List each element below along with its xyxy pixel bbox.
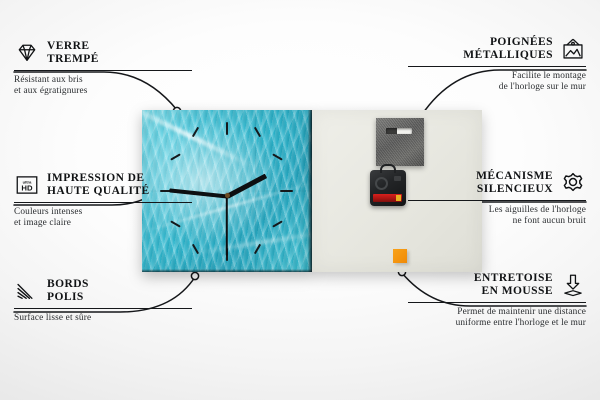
feature-poignees-metalliques: POIGNÉES MÉTALLIQUES Facilite le montage… bbox=[408, 36, 586, 94]
feature-rule bbox=[14, 202, 192, 203]
feature-header: ENTRETOISE EN MOUSSE bbox=[408, 272, 586, 298]
feature-title: VERRE TREMPÉ bbox=[47, 40, 99, 65]
feature-description: Facilite le montage de l'horloge sur le … bbox=[408, 71, 586, 94]
arrow-down-pad-icon bbox=[560, 272, 586, 298]
gear-icon bbox=[560, 170, 586, 196]
feature-title: ENTRETOISE EN MOUSSE bbox=[474, 272, 553, 297]
feature-title: IMPRESSION DE HAUTE QUALITÉ bbox=[47, 172, 150, 197]
foam-spacer bbox=[393, 249, 407, 263]
feature-rule bbox=[408, 66, 586, 67]
movement-battery bbox=[373, 194, 402, 202]
feature-verre-trempe: VERRE TREMPÉ Résistant aux bris et aux é… bbox=[14, 40, 192, 98]
feature-title: POIGNÉES MÉTALLIQUES bbox=[463, 36, 553, 61]
glass-edge-bottom bbox=[142, 269, 312, 272]
clock-tick bbox=[280, 190, 293, 192]
wall-mount-frame-icon bbox=[560, 36, 586, 62]
feature-header: BORDS POLIS bbox=[14, 278, 192, 304]
movement-knob bbox=[394, 176, 401, 181]
movement-dial bbox=[375, 177, 388, 190]
battery-terminal bbox=[396, 195, 401, 201]
feature-rule bbox=[408, 302, 586, 303]
feature-entretoise-en-mousse: ENTRETOISE EN MOUSSE Permet de maintenir… bbox=[408, 272, 586, 330]
metal-hanger-plate bbox=[376, 118, 424, 166]
clock-second-hand bbox=[226, 196, 228, 256]
feature-impression-haute-qualite: ultra HD IMPRESSION DE HAUTE QUALITÉ Cou… bbox=[14, 172, 192, 230]
svg-text:HD: HD bbox=[21, 184, 33, 193]
feature-description: Permet de maintenir une distance uniform… bbox=[408, 307, 586, 330]
feature-rule bbox=[14, 308, 192, 309]
infographic-canvas: VERRE TREMPÉ Résistant aux bris et aux é… bbox=[0, 0, 600, 400]
feature-title: BORDS POLIS bbox=[47, 278, 89, 303]
clock-tick bbox=[226, 122, 228, 135]
feature-header: POIGNÉES MÉTALLIQUES bbox=[408, 36, 586, 62]
clock-movement bbox=[370, 170, 406, 206]
connector-dot-bords bbox=[191, 272, 198, 279]
feature-description: Résistant aux bris et aux égratignures bbox=[14, 75, 192, 98]
feature-rule bbox=[408, 200, 586, 201]
ultra-hd-icon: ultra HD bbox=[14, 172, 40, 198]
feature-description: Surface lisse et sûre bbox=[14, 313, 192, 324]
feature-description: Les aiguilles de l'horloge ne font aucun… bbox=[408, 205, 586, 228]
feature-header: ultra HD IMPRESSION DE HAUTE QUALITÉ bbox=[14, 172, 192, 198]
feature-rule bbox=[14, 70, 192, 71]
diamond-icon bbox=[14, 40, 40, 66]
feature-bords-polis: BORDS POLIS Surface lisse et sûre bbox=[14, 278, 192, 324]
polished-edges-icon bbox=[14, 278, 40, 304]
movement-hanger-loop bbox=[380, 164, 396, 173]
feature-title: MÉCANISME SILENCIEUX bbox=[476, 170, 553, 195]
clock-center-hub bbox=[225, 193, 230, 198]
hanger-slot bbox=[386, 128, 412, 134]
feature-description: Couleurs intenses et image claire bbox=[14, 207, 192, 230]
feature-header: VERRE TREMPÉ bbox=[14, 40, 192, 66]
feature-header: MÉCANISME SILENCIEUX bbox=[408, 170, 586, 196]
feature-mecanisme-silencieux: MÉCANISME SILENCIEUX Les aiguilles de l'… bbox=[408, 170, 586, 228]
